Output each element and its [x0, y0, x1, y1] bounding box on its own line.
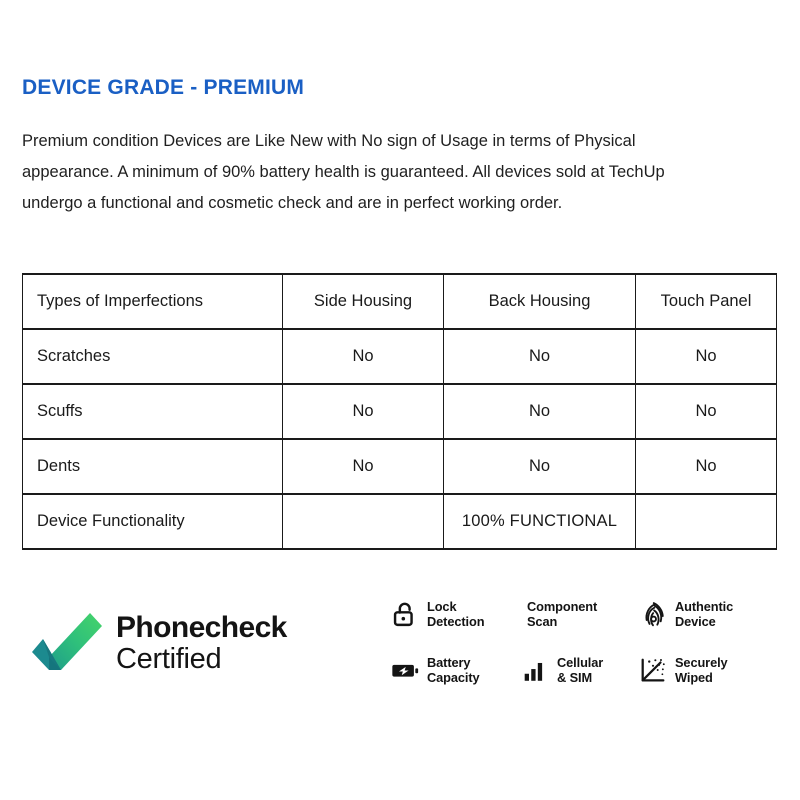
wipe-icon	[638, 655, 668, 685]
feature-battery-capacity: Battery Capacity	[390, 655, 520, 685]
feature-label: Authentic Device	[675, 599, 733, 629]
feature-securely-wiped: Securely Wiped	[638, 655, 790, 685]
column-header-side-housing: Side Housing	[283, 274, 444, 329]
row-label-scratches: Scratches	[23, 329, 283, 384]
cell-scratches-touch: No	[636, 329, 777, 384]
imperfections-table: Types of Imperfections Side Housing Back…	[22, 273, 777, 550]
cell-functionality-side	[283, 494, 444, 549]
feature-label: Battery Capacity	[427, 655, 480, 685]
feature-label-line1: Authentic	[675, 599, 733, 614]
row-label-scuffs: Scuffs	[23, 384, 283, 439]
cell-dents-touch: No	[636, 439, 777, 494]
feature-label-line1: Battery	[427, 655, 480, 670]
feature-label-line1: Component	[527, 599, 597, 614]
table-row: Scratches No No No	[23, 329, 777, 384]
row-label-device-functionality: Device Functionality	[23, 494, 283, 549]
status-badge-functional: 100% FUNCTIONAL	[444, 494, 636, 549]
row-label-dents: Dents	[23, 439, 283, 494]
page-title: DEVICE GRADE - PREMIUM	[22, 76, 304, 100]
checkmark-icon	[30, 606, 104, 680]
column-header-types: Types of Imperfections	[23, 274, 283, 329]
column-header-touch-panel: Touch Panel	[636, 274, 777, 329]
feature-label: Lock Detection	[427, 599, 484, 629]
feature-label-line2: Device	[675, 614, 733, 629]
feature-label-line2: Detection	[427, 614, 484, 629]
feature-label-line2: Scan	[527, 614, 597, 629]
feature-badges: Lock Detection Component Scan	[390, 586, 790, 698]
cell-scuffs-back: No	[444, 384, 636, 439]
table-row: Dents No No No	[23, 439, 777, 494]
feature-label: Securely Wiped	[675, 655, 728, 685]
feature-label-line2: Capacity	[427, 670, 480, 685]
cell-dents-back: No	[444, 439, 636, 494]
table-header-row: Types of Imperfections Side Housing Back…	[23, 274, 777, 329]
feature-lock-detection: Lock Detection	[390, 599, 520, 629]
column-header-back-housing: Back Housing	[444, 274, 636, 329]
table-row: Scuffs No No No	[23, 384, 777, 439]
cell-functionality-touch	[636, 494, 777, 549]
feature-label-line1: Lock	[427, 599, 484, 614]
lock-icon	[390, 599, 420, 629]
cell-scratches-back: No	[444, 329, 636, 384]
feature-label-line2: Wiped	[675, 670, 728, 685]
feature-label-line1: Securely	[675, 655, 728, 670]
logo-line-1: Phonecheck	[116, 612, 287, 643]
signal-bars-icon	[520, 655, 550, 685]
cell-dents-side: No	[283, 439, 444, 494]
battery-icon	[390, 655, 420, 685]
logo-wordmark: Phonecheck Certified	[116, 612, 287, 673]
cell-scratches-side: No	[283, 329, 444, 384]
certification-footer: Phonecheck Certified Lock Detection	[0, 578, 800, 718]
fingerprint-icon	[638, 599, 668, 629]
grade-description: Premium condition Devices are Like New w…	[22, 126, 690, 219]
feature-label: Component Scan	[527, 599, 597, 629]
feature-label: Cellular & SIM	[557, 655, 603, 685]
phonecheck-certified-logo: Phonecheck Certified	[30, 606, 287, 680]
device-grade-card: DEVICE GRADE - PREMIUM Premium condition…	[0, 0, 800, 800]
feature-authentic-device: Authentic Device	[638, 599, 790, 629]
feature-label-line1: Cellular	[557, 655, 603, 670]
feature-component-scan: Component Scan	[520, 599, 638, 629]
cell-scuffs-touch: No	[636, 384, 777, 439]
logo-line-2: Certified	[116, 644, 287, 674]
cell-scuffs-side: No	[283, 384, 444, 439]
table-row: Device Functionality 100% FUNCTIONAL	[23, 494, 777, 549]
feature-cellular-sim: Cellular & SIM	[520, 655, 638, 685]
feature-label-line2: & SIM	[557, 670, 603, 685]
